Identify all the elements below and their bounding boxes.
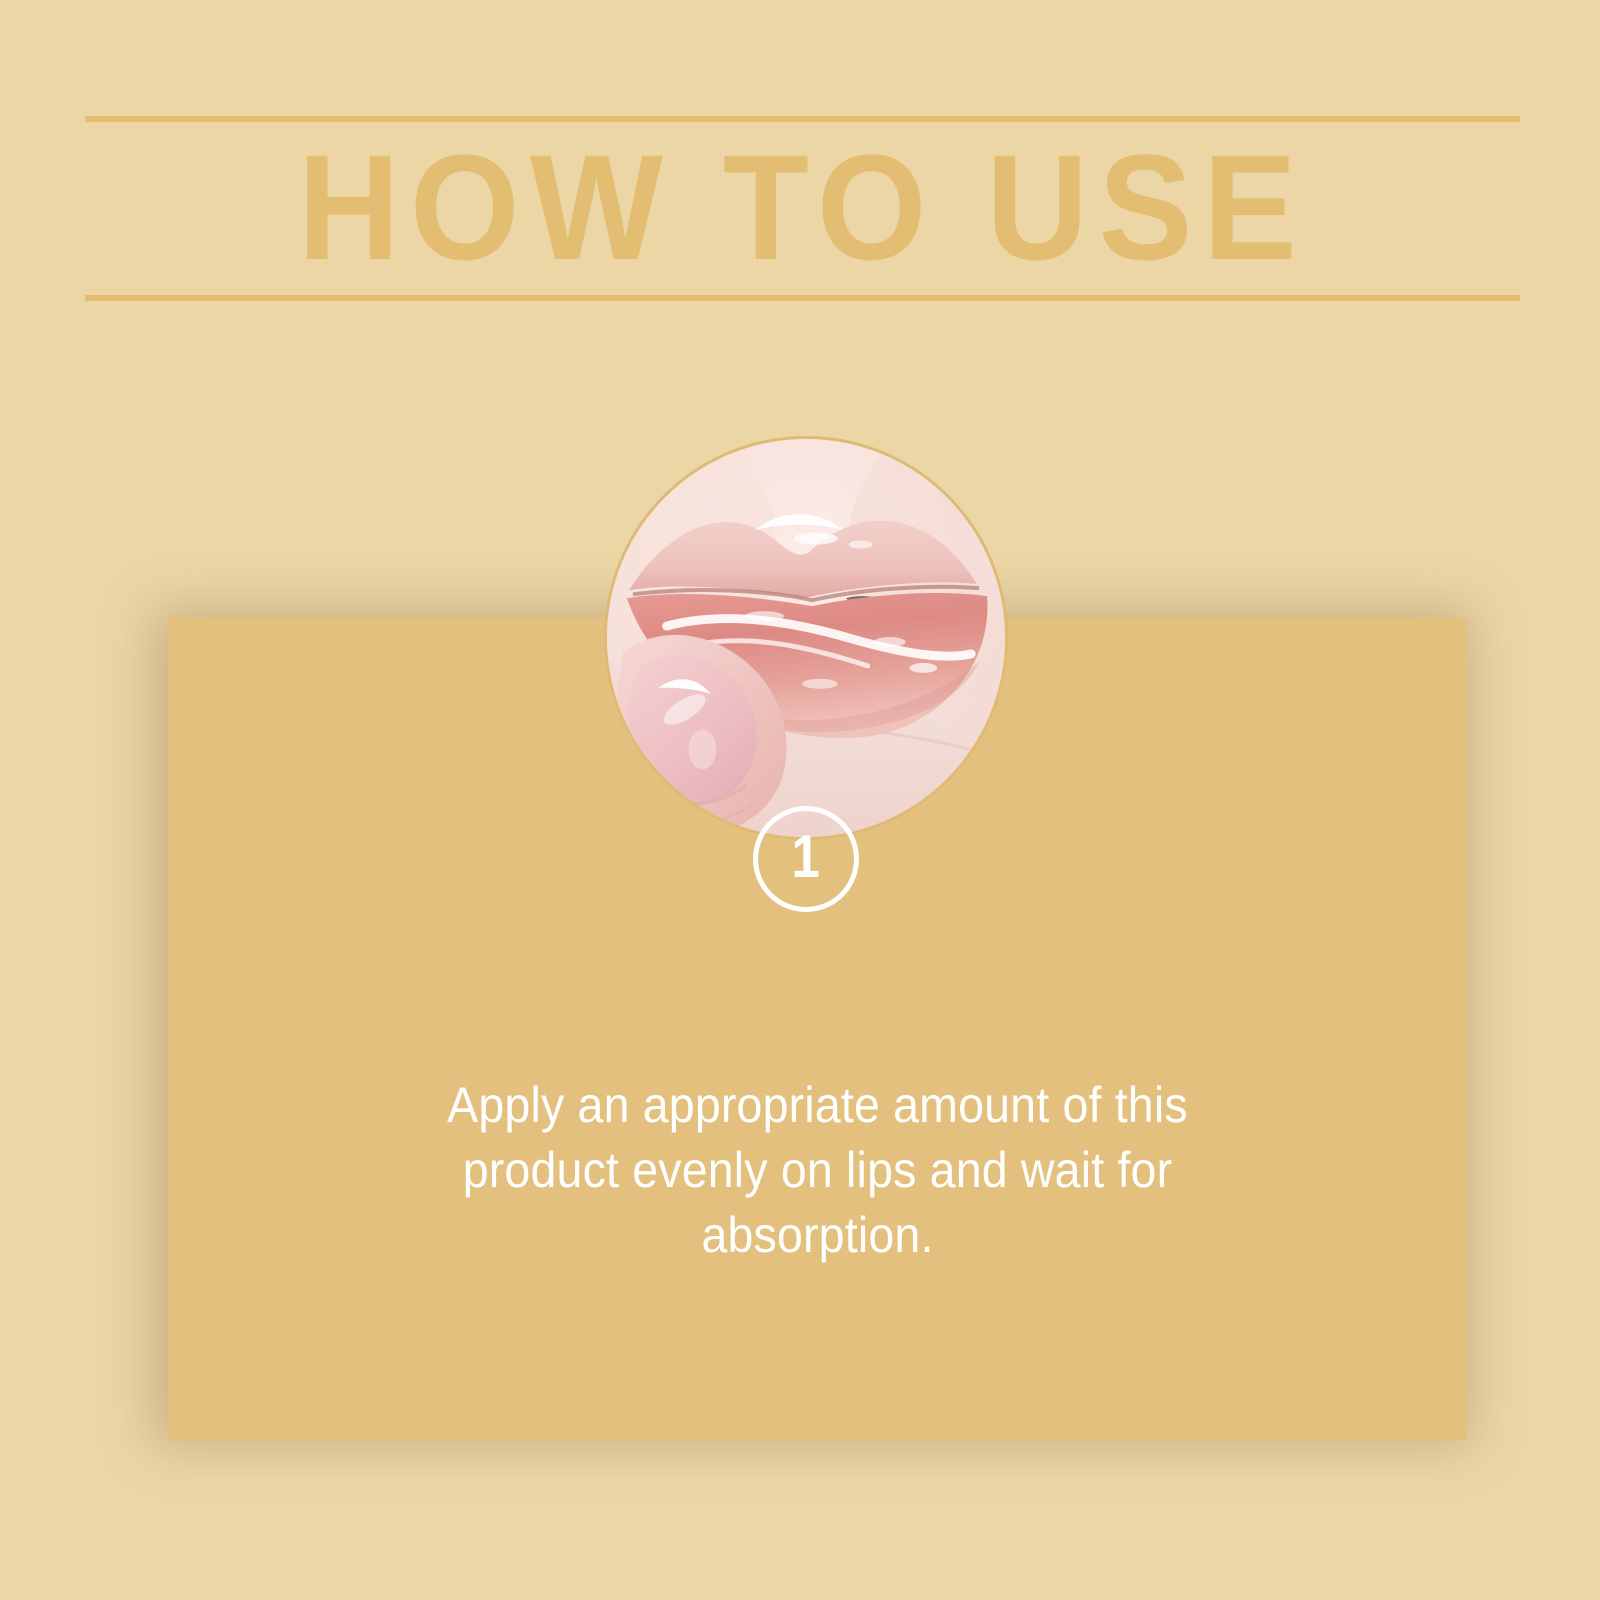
step-number-badge: 1 (753, 806, 859, 912)
header-block: HOW TO USE (85, 112, 1520, 302)
step-number-label: 1 (792, 827, 820, 887)
step-caption: Apply an appropriate amount of this prod… (336, 1073, 1299, 1268)
how-to-use-poster: HOW TO USE (0, 0, 1600, 1600)
header-rule-top (85, 116, 1520, 122)
lips-photo-circle (604, 436, 1008, 840)
page-title: HOW TO USE (128, 132, 1477, 282)
lips-photo-illustration (607, 439, 1005, 837)
header-rule-bottom (85, 295, 1520, 301)
